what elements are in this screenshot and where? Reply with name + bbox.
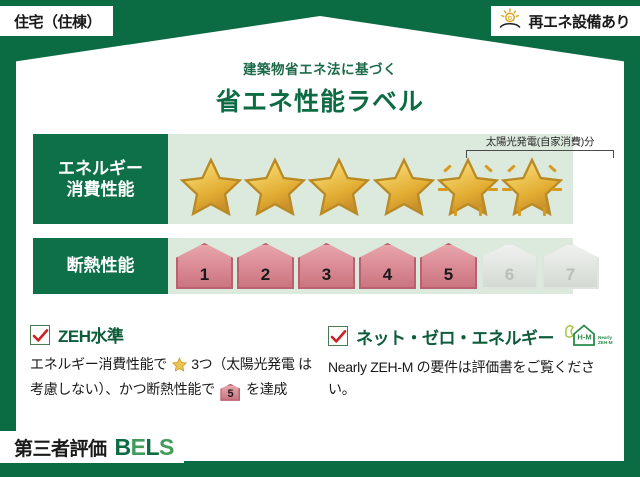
evaluation-info: 評価日 2025年2月28日 5c3a771b-7c6c-4172: [482, 431, 620, 463]
bels-letter-b: B: [115, 434, 131, 460]
insulation-grade-area: 1234567: [168, 238, 573, 294]
nearly-zeh-m-logo-icon: H-M Nearly ZEH-M: [562, 322, 614, 350]
solar-contribution-annotation: 太陽光発電(自家消費)分: [466, 134, 614, 158]
insulation-grade-badge: 6: [481, 243, 538, 289]
energy-performance-label-box: エネルギー 消費性能: [33, 134, 168, 224]
energy-label-line1: エネルギー: [58, 158, 143, 179]
bels-certification-box: 第三者評価 BELS: [0, 431, 184, 463]
zeh-standard-checkbox[interactable]: [30, 325, 50, 345]
inline-grade-badge: 5: [220, 384, 240, 401]
house-type-tag: 住宅（住棟）: [0, 6, 113, 36]
solar-star-tick-mark: [502, 188, 512, 191]
star-icon: [501, 156, 563, 218]
title-block: 建築物省エネ法に基づく 省エネ性能ラベル: [0, 58, 640, 118]
insulation-grade-badge: 2: [237, 243, 294, 289]
insulation-grade-strip: 1234567: [176, 241, 569, 291]
bels-logo: BELS: [115, 434, 174, 461]
solar-star-tick-mark: [543, 207, 546, 216]
inline-star-icon: [172, 357, 187, 379]
svg-text:D: D: [508, 16, 512, 22]
renewable-energy-badge: D 再エネ設備あり: [491, 6, 640, 36]
solar-star-tick-mark: [438, 188, 448, 191]
energy-label-line2: 消費性能: [67, 179, 135, 200]
insulation-grade-badge: 3: [298, 243, 355, 289]
star-icon: [308, 156, 370, 218]
evaluation-date: 評価日 2025年2月28日: [482, 431, 620, 451]
criteria-net-zero-energy-header: ネット・ゼロ・エネルギー H-M Nearly ZEH-M: [328, 322, 618, 350]
star-rating-strip: [174, 152, 569, 222]
label-subtitle: 建築物省エネ法に基づく: [0, 58, 640, 78]
solar-star-tick-mark: [518, 207, 521, 216]
solar-star-tick-mark: [552, 188, 562, 191]
bels-letter-s: S: [159, 434, 174, 460]
energy-performance-row: エネルギー 消費性能 太陽光発電(自家消費)分: [33, 134, 573, 224]
bels-letter-l: L: [145, 434, 159, 460]
third-party-evaluation-label: 第三者評価: [14, 434, 107, 461]
sun-solar-icon: D: [499, 8, 523, 35]
house-type-tag-label: 住宅（住棟）: [14, 11, 101, 32]
criteria-zeh-standard: ZEH水準 エネルギー消費性能で 3つ（太陽光発電 は考慮しない）、かつ断熱性能…: [30, 322, 322, 401]
solar-star-tick-mark: [479, 207, 482, 216]
zeh-logo-text: H-M: [577, 333, 591, 342]
zeh-desc-part3: を達成: [246, 381, 287, 397]
zeh-desc-star-count: 3つ（太陽光発電: [191, 356, 294, 372]
label-main-title: 省エネ性能ラベル: [0, 82, 640, 118]
solar-contribution-note-text: 太陽光発電(自家消費)分: [466, 134, 614, 149]
net-zero-energy-description: Nearly ZEH-M の要件は評価書をご覧ください。: [328, 357, 618, 400]
net-zero-energy-title: ネット・ゼロ・エネルギー: [356, 324, 554, 349]
energy-performance-stars-area: 太陽光発電(自家消費)分: [168, 134, 573, 224]
solar-contribution-bracket: [466, 150, 614, 158]
star-icon: [180, 156, 242, 218]
insulation-label: 断熱性能: [67, 255, 135, 276]
bottom-bar: 第三者評価 BELS フィランテ V 評価日 2025年2月28日 5c3a77…: [0, 427, 640, 477]
star-icon: [244, 156, 306, 218]
energy-performance-label: 住宅（住棟） D 再エネ設備あり 建築物省エネ法に基づく 省エネ性能ラベル: [0, 0, 640, 477]
criteria-net-zero-energy: ネット・ゼロ・エネルギー H-M Nearly ZEH-M Nearly ZEH…: [328, 322, 618, 400]
zeh-desc-part1: エネルギー消費性能で: [30, 356, 167, 372]
insulation-performance-label-box: 断熱性能: [33, 238, 168, 294]
insulation-grade-badge: 4: [359, 243, 416, 289]
evaluation-id: 5c3a771b-7c6c-4172: [482, 452, 620, 463]
net-zero-energy-checkbox[interactable]: [328, 326, 348, 346]
star-icon: [437, 156, 499, 218]
building-name: フィランテ V: [205, 437, 298, 457]
insulation-grade-badge: 1: [176, 243, 233, 289]
solar-star-tick-mark: [488, 188, 498, 191]
renewable-energy-badge-label: 再エネ設備あり: [528, 11, 630, 32]
star-icon: [373, 156, 435, 218]
criteria-zeh-standard-header: ZEH水準: [30, 322, 322, 347]
solar-star-tick-mark: [454, 207, 457, 216]
zeh-logo-sub2: ZEH-M: [598, 340, 613, 345]
insulation-performance-row: 断熱性能 1234567: [33, 238, 573, 294]
bels-letter-e: E: [131, 434, 146, 460]
insulation-grade-badge: 5: [420, 243, 477, 289]
zeh-standard-title: ZEH水準: [58, 322, 124, 347]
zeh-standard-description: エネルギー消費性能で 3つ（太陽光発電 は考慮しない）、かつ断熱性能で 5 を達…: [30, 354, 322, 401]
